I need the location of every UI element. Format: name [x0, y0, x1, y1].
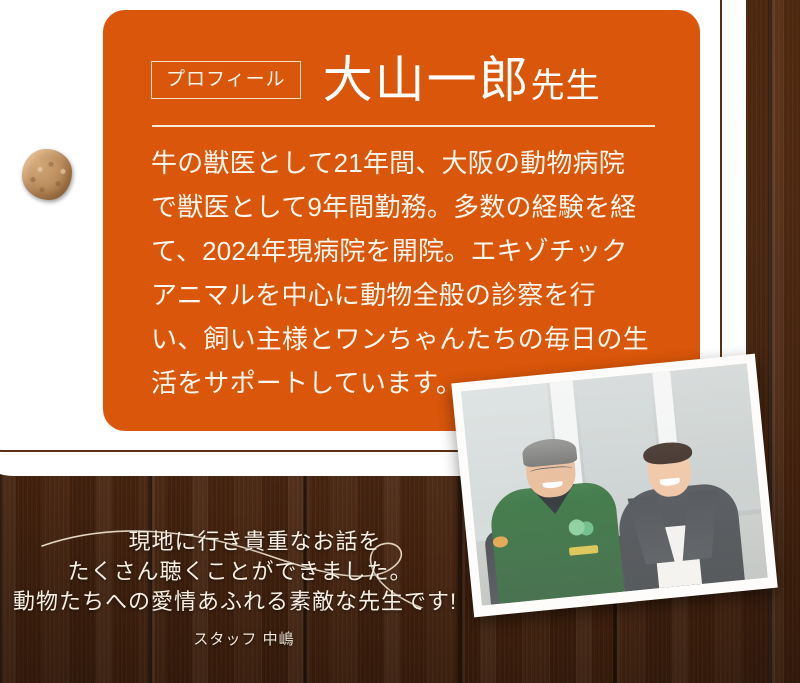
body-line: アニマルを中心に動物全般の診察を行 [151, 273, 671, 317]
profile-section: プロフィール 大山一郎先生 牛の獣医として21年間、大阪の動物病院 で獣医として… [0, 0, 800, 683]
profile-photo [461, 364, 768, 606]
profile-body-text: 牛の獣医として21年間、大阪の動物病院 で獣医として9年間勤務。多数の経験を経 … [151, 141, 671, 405]
photo-haze-overlay [461, 364, 768, 606]
doctor-name-suffix: 先生 [531, 70, 601, 104]
caption-line: 動物たちへの愛情あふれる素敵な先生です! [0, 587, 470, 617]
body-line: て、2024年現病院を開院。エキゾチック [151, 229, 671, 273]
caption-line: たくさん聴くことができました。 [0, 557, 470, 587]
doctor-name-main: 大山一郎 [323, 55, 531, 105]
card-header: プロフィール 大山一郎先生 [151, 55, 601, 105]
doctor-name: 大山一郎先生 [323, 55, 601, 105]
header-divider [152, 125, 655, 127]
kibble-decoration-icon [22, 149, 72, 200]
body-line: 牛の獣医として21年間、大阪の動物病院 [151, 141, 671, 185]
body-line: で獣医として9年間勤務。多数の経験を経 [151, 185, 671, 229]
body-line: い、飼い主様とワンちゃんたちの毎日の生 [151, 317, 671, 361]
caption-line: 現地に行き貴重なお話を [0, 527, 470, 557]
profile-tag-label: プロフィール [151, 61, 301, 99]
caption-attribution: スタッフ 中嶋 [0, 628, 470, 649]
photo-frame [451, 354, 777, 618]
staff-caption: 現地に行き貴重なお話を たくさん聴くことができました。 動物たちへの愛情あふれる… [0, 527, 470, 617]
